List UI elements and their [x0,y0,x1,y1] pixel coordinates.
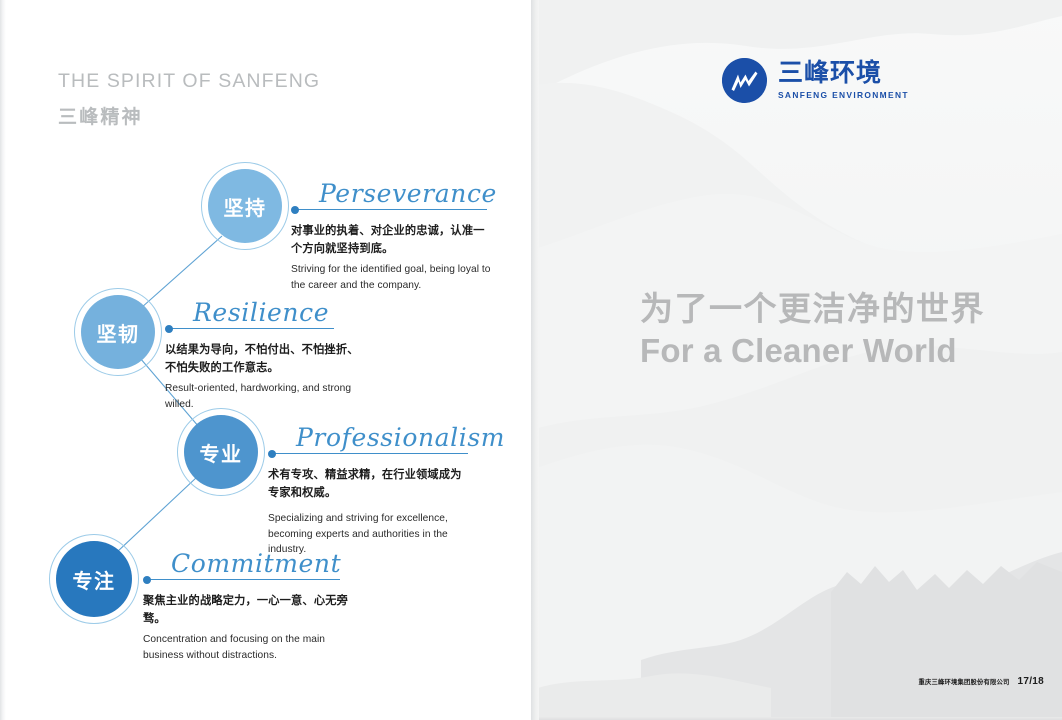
value-title-row: Perseverance [291,170,491,216]
value-copy-commitment: Commitment 聚焦主业的战略定力，一心一意、心无旁骛。 Concentr… [143,540,348,663]
value-title-row: Professionalism [268,414,468,460]
value-copy-professionalism: Professionalism 术有专攻、精益求精，在行业领域成为专家和权威。 … [268,414,468,557]
value-badge-perseverance: 坚持 [208,169,282,243]
logo-wordmark: 三峰环境 SANFENG ENVIRONMENT [778,61,909,100]
logo-brand-english: SANFENG ENVIRONMENT [778,90,909,100]
value-rule [271,453,468,454]
value-badge-label: 坚持 [224,192,267,221]
value-badge-label: 坚韧 [97,318,140,347]
value-badge-professionalism: 专业 [184,415,258,489]
value-title-row: Commitment [143,540,348,586]
value-dot [291,206,299,214]
page-title-chinese: 三峰精神 [58,102,320,129]
page-title-english: THE SPIRIT OF SANFENG [58,70,320,93]
slogan-block: 为了一个更洁净的世界 For a Cleaner World [640,288,985,372]
value-description-chinese: 聚焦主业的战略定力，一心一意、心无旁骛。 [143,592,348,628]
value-title: Resilience [193,298,329,327]
value-title: Perseverance [319,179,497,208]
value-badge-resilience: 坚韧 [81,295,155,369]
value-dot [143,576,151,584]
value-copy-perseverance: Perseverance 对事业的执着、对企业的忠诚，认准一个方向就坚持到底。 … [291,170,491,293]
value-title-row: Resilience [165,289,365,335]
slogan-english: For a Cleaner World [640,330,985,372]
left-page: THE SPIRIT OF SANFENG 三峰精神 坚持 Perseveran… [0,0,531,720]
value-description-chinese: 术有专攻、精益求精，在行业领域成为专家和权威。 [268,466,468,502]
value-rule [168,328,334,329]
value-title: Professionalism [296,423,505,452]
value-title: Commitment [171,549,341,578]
value-dot [165,325,173,333]
sanfeng-mountain-mark-icon [722,58,767,103]
page-footer: 重庆三峰环境集团股份有限公司 17/18 [919,676,1045,687]
value-badge-label: 专业 [200,438,243,467]
page-title: THE SPIRIT OF SANFENG 三峰精神 [58,70,320,129]
spread-gutter [531,0,539,720]
value-dot [268,450,276,458]
footer-company-name: 重庆三峰环境集团股份有限公司 [919,677,1010,686]
value-copy-resilience: Resilience 以结果为导向，不怕付出、不怕挫折、不怕失败的工作意志。 R… [165,289,365,412]
value-badge-commitment: 专注 [56,541,132,617]
value-description-chinese: 以结果为导向，不怕付出、不怕挫折、不怕失败的工作意志。 [165,341,365,377]
value-rule [294,209,487,210]
company-logo: 三峰环境 SANFENG ENVIRONMENT [722,58,909,103]
logo-brand-chinese: 三峰环境 [778,61,909,86]
value-badge-label: 专注 [73,565,116,594]
footer-page-number: 17/18 [1017,676,1044,687]
value-description-english: Concentration and focusing on the main b… [143,632,348,663]
page-edge-shadow [0,0,6,720]
slogan-chinese: 为了一个更洁净的世界 [640,288,985,330]
value-rule [146,579,340,580]
brochure-spread: THE SPIRIT OF SANFENG 三峰精神 坚持 Perseveran… [0,0,1062,720]
value-description-english: Result-oriented, hardworking, and strong… [165,381,365,412]
value-description-chinese: 对事业的执着、对企业的忠诚，认准一个方向就坚持到底。 [291,222,491,258]
